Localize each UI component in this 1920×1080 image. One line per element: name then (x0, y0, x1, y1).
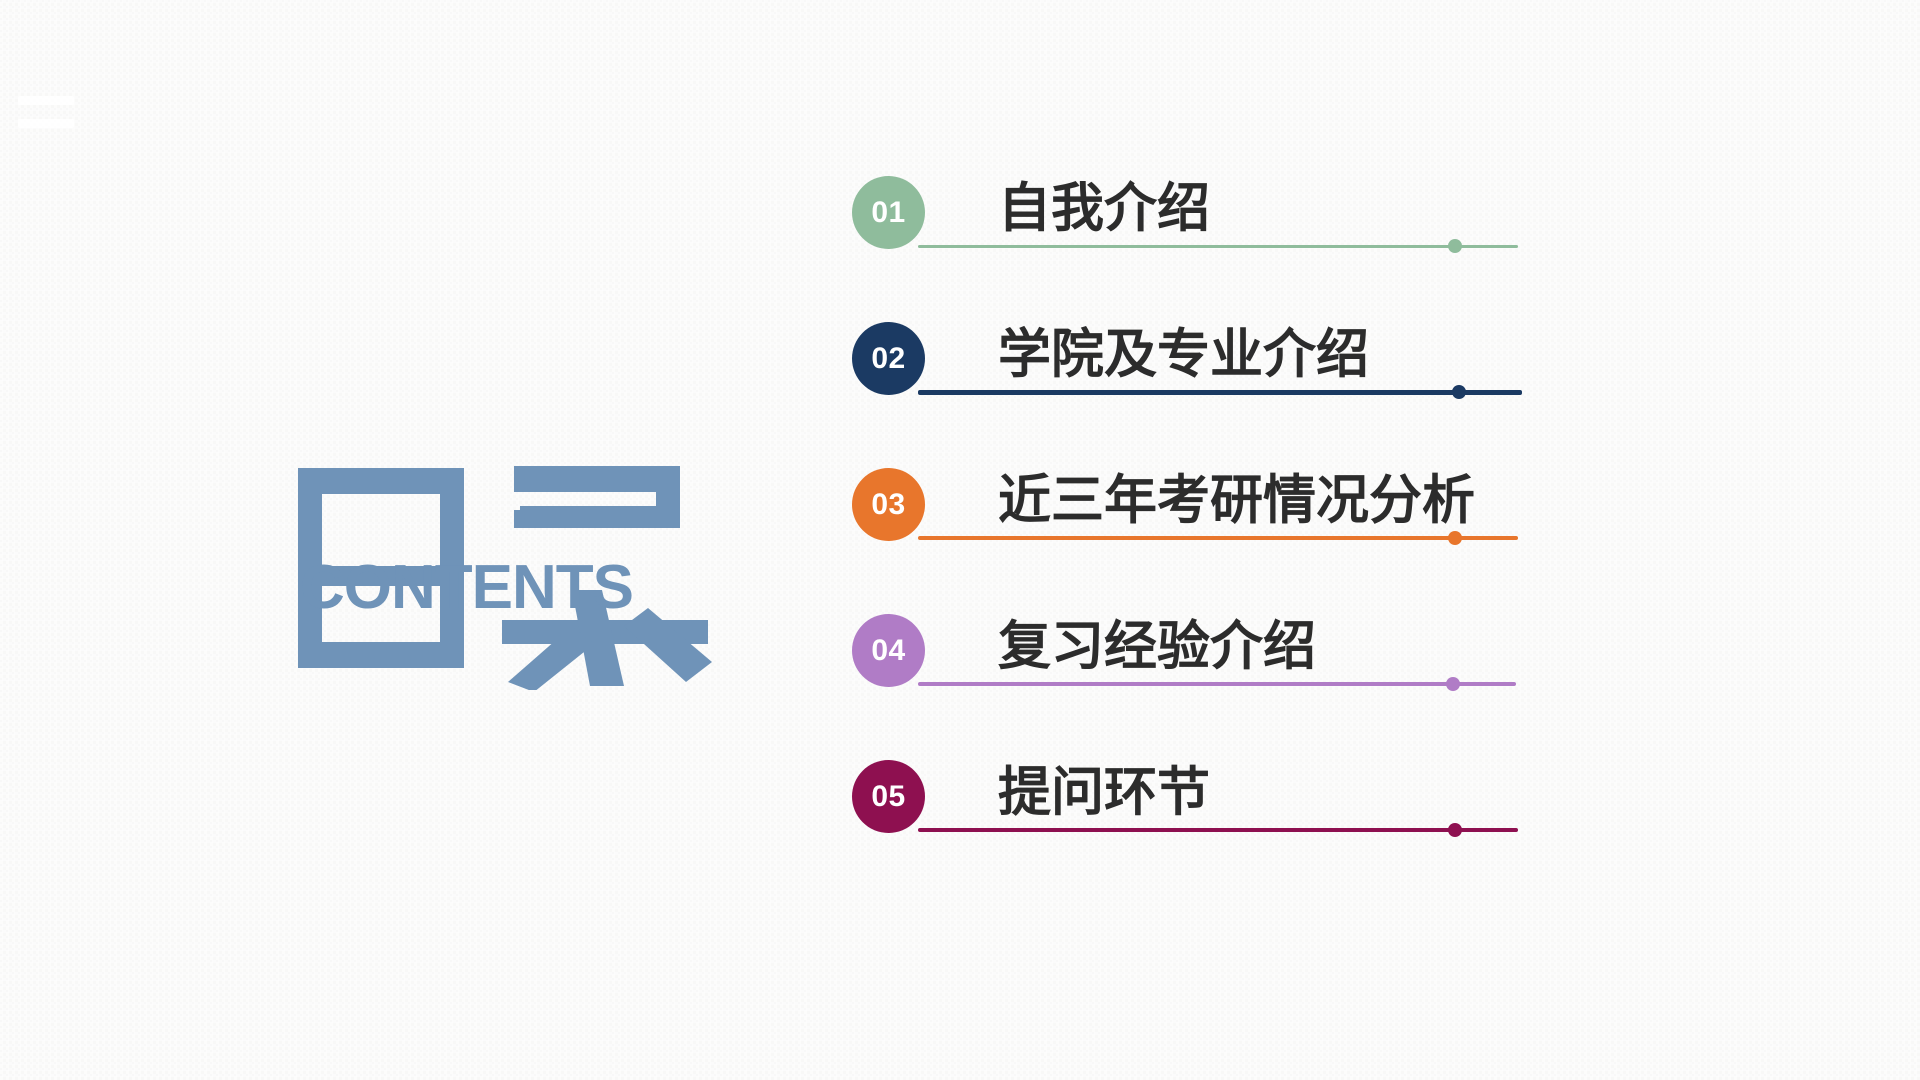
toc-row[interactable]: 01自我介绍 (852, 176, 1682, 322)
toc-number-badge[interactable]: 03 (852, 468, 925, 541)
toc-underline (918, 536, 1518, 540)
contents-slide: CONTENTS 01自我介绍02学院及专业介绍03近三年考研情况分析04复习经… (0, 0, 1920, 1080)
toc-row[interactable]: 05提问环节 (852, 760, 1682, 906)
toc-item-title[interactable]: 复习经验介绍 (998, 610, 1316, 684)
toc-underline-end-dot (1452, 385, 1466, 399)
toc-underline (918, 828, 1518, 832)
toc-number-badge[interactable]: 04 (852, 614, 925, 687)
toc-underline-end-dot (1448, 239, 1462, 253)
contents-title-graphic: CONTENTS (272, 430, 732, 690)
toc-underline (918, 390, 1522, 395)
toc-row[interactable]: 03近三年考研情况分析 (852, 468, 1682, 614)
contents-latin-label: CONTENTS (300, 553, 633, 622)
toc-item-title[interactable]: 学院及专业介绍 (998, 318, 1369, 392)
toc-underline-end-dot (1448, 531, 1462, 545)
toc-underline (918, 682, 1516, 686)
toc-row[interactable]: 04复习经验介绍 (852, 614, 1682, 760)
toc-item-title[interactable]: 近三年考研情况分析 (998, 464, 1475, 538)
toc-underline-end-dot (1446, 677, 1460, 691)
background-artifact (18, 96, 74, 140)
artifact-bar-bottom (18, 119, 74, 128)
artifact-bar-top (18, 96, 74, 105)
toc-item-title[interactable]: 自我介绍 (998, 172, 1210, 246)
toc-number-badge[interactable]: 01 (852, 176, 925, 249)
contents-title-svg: CONTENTS (272, 430, 732, 690)
toc-underline (918, 245, 1518, 248)
toc-underline-end-dot (1448, 823, 1462, 837)
toc-row[interactable]: 02学院及专业介绍 (852, 322, 1682, 468)
toc-number-badge[interactable]: 02 (852, 322, 925, 395)
toc-number-badge[interactable]: 05 (852, 760, 925, 833)
toc-list: 01自我介绍02学院及专业介绍03近三年考研情况分析04复习经验介绍05提问环节 (852, 176, 1682, 906)
toc-item-title[interactable]: 提问环节 (998, 756, 1210, 830)
